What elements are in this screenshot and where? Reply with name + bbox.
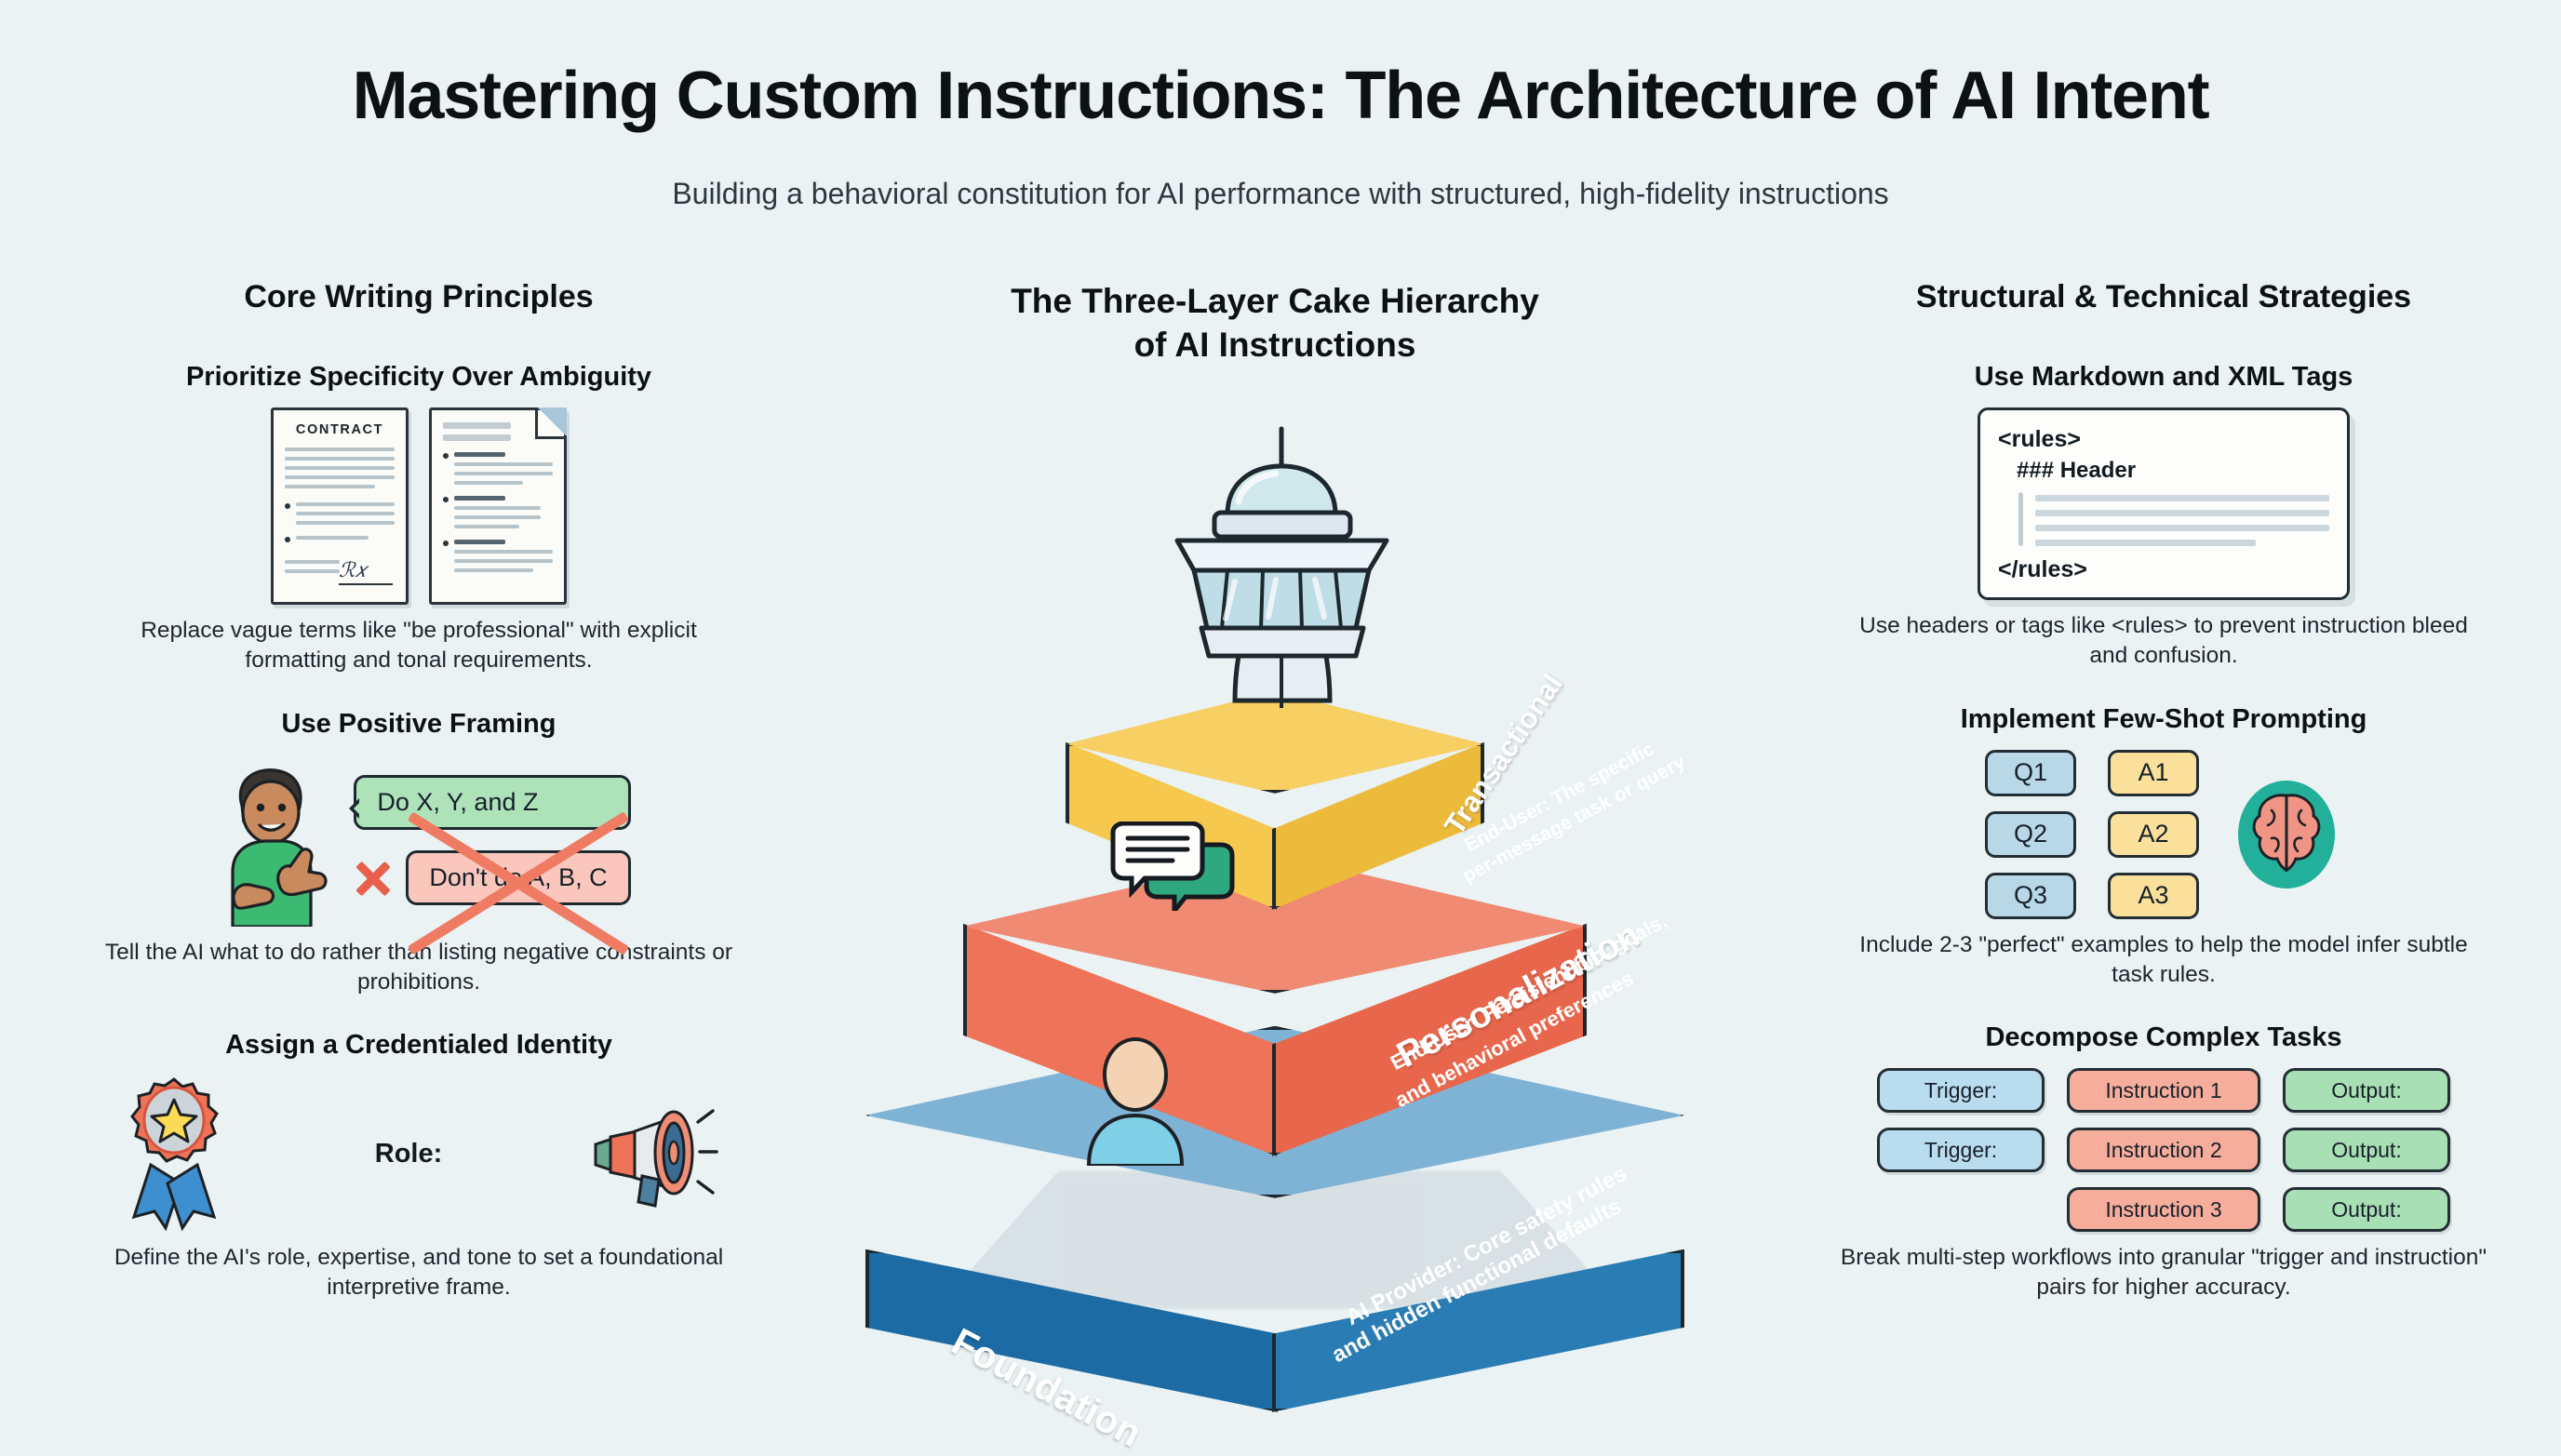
negative-instruction-bubble: Don't do A, B, C [406, 850, 630, 905]
page-title: Mastering Custom Instructions: The Archi… [0, 58, 2561, 134]
block-few-shot-title: Implement Few-Shot Prompting [1838, 704, 2489, 735]
instruction-pill: Instruction 1 [2067, 1068, 2260, 1113]
doc-line [285, 447, 395, 451]
right-column-heading: Structural & Technical Strategies [1838, 279, 2489, 315]
doc-line [454, 559, 553, 563]
doc-line [285, 466, 395, 470]
code-markdown-header: ### Header [2017, 458, 2329, 484]
cross-mark-icon [354, 859, 393, 898]
bullet-lines [454, 452, 553, 490]
answer-chip: A2 [2108, 811, 2199, 858]
cake-heading-line2: of AI Instructions [772, 323, 1777, 367]
control-tower-icon [1149, 421, 1415, 719]
bullet-dot-icon [443, 453, 449, 459]
instruction-column: Instruction 1 Instruction 2 Instruction … [2067, 1068, 2260, 1232]
question-chip-column: Q1 Q2 Q3 [1985, 750, 2076, 919]
answer-chip: A1 [2108, 750, 2199, 796]
block-few-shot: Implement Few-Shot Prompting Q1 Q2 Q3 A1… [1838, 704, 2489, 990]
signature: ℛ𝑥 [339, 561, 393, 585]
positive-instruction-bubble: Do X, Y, and Z [354, 775, 630, 830]
bullet-lines [454, 540, 553, 578]
block-few-shot-caption: Include 2-3 "perfect" examples to help t… [1838, 930, 2489, 990]
instruction-pill: Instruction 2 [2067, 1128, 2260, 1172]
doc-line [454, 568, 533, 572]
doc-line [285, 560, 340, 564]
role-label: Role: [375, 1139, 443, 1169]
bullet-dot-icon [443, 541, 449, 546]
block-markdown-xml-title: Use Markdown and XML Tags [1838, 362, 2489, 393]
cake-heading: The Three-Layer Cake Hierarchy of AI Ins… [772, 279, 1777, 367]
specific-document [429, 407, 567, 605]
left-column-heading: Core Writing Principles [102, 279, 735, 315]
doc-line [454, 472, 553, 475]
signature-line [339, 583, 393, 585]
bullet-lines [296, 536, 395, 545]
block-markdown-xml: Use Markdown and XML Tags <rules> ### He… [1838, 362, 2489, 671]
left-column: Core Writing Principles Prioritize Speci… [102, 279, 735, 1336]
code-body [2018, 492, 2329, 546]
user-avatar-icon [1079, 1035, 1191, 1166]
contract-documents-illustration: CONTRACT [102, 407, 735, 605]
output-pill: Output: [2283, 1187, 2450, 1232]
identity-illustration: Role: [102, 1075, 735, 1232]
block-positive-framing-title: Use Positive Framing [102, 709, 735, 740]
doc-line [454, 506, 541, 510]
block-decompose: Decompose Complex Tasks Trigger: Trigger… [1838, 1022, 2489, 1302]
doc-line [454, 540, 505, 544]
few-shot-illustration: Q1 Q2 Q3 A1 A2 A3 [1838, 750, 2489, 919]
doc-line [454, 515, 541, 519]
doc-line [285, 475, 395, 479]
infographic-page: Mastering Custom Instructions: The Archi… [0, 0, 2561, 1429]
block-credentialed-identity-title: Assign a Credentialed Identity [102, 1030, 735, 1061]
block-credentialed-identity-caption: Define the AI's role, expertise, and ton… [102, 1243, 735, 1302]
doc-line [454, 550, 553, 554]
question-chip: Q2 [1985, 811, 2076, 858]
block-positive-framing: Use Positive Framing [102, 709, 735, 997]
answer-chip-column: A1 A2 A3 [2108, 750, 2199, 919]
doc-line [454, 496, 505, 501]
megaphone-icon [588, 1098, 718, 1209]
code-line [2035, 525, 2329, 531]
doc-line [296, 521, 395, 525]
xml-code-card: <rules> ### Header </rules> [1978, 407, 2350, 600]
doc-bullet [443, 496, 553, 534]
doc-line [296, 502, 395, 506]
bullet-dot-icon [285, 503, 290, 509]
code-line [2035, 510, 2329, 516]
block-specificity: Prioritize Specificity Over Ambiguity CO… [102, 362, 735, 675]
brain-icon [2231, 779, 2342, 890]
doc-line [285, 485, 375, 488]
doc-line [443, 422, 511, 429]
block-specificity-caption: Replace vague terms like "be professiona… [102, 616, 735, 675]
person-thumbs-up-icon [207, 755, 346, 927]
bullet-dot-icon [443, 497, 449, 502]
doc-line [454, 525, 519, 528]
decompose-illustration: Trigger: Trigger: Instruction 1 Instruct… [1838, 1068, 2489, 1232]
question-chip: Q1 [1985, 750, 2076, 796]
cake-heading-line1: The Three-Layer Cake Hierarchy [772, 279, 1777, 323]
answer-chip: A3 [2108, 873, 2199, 919]
doc-line [296, 536, 369, 540]
block-decompose-title: Decompose Complex Tasks [1838, 1022, 2489, 1053]
bullet-dot-icon [285, 537, 290, 542]
doc-line [285, 457, 395, 461]
award-rosette-icon [119, 1075, 229, 1232]
output-pill: Output: [2283, 1068, 2450, 1113]
doc-line [454, 481, 523, 485]
doc-bullet [443, 452, 553, 490]
page-subtitle: Building a behavioral constitution for A… [0, 177, 2561, 211]
output-pill: Output: [2283, 1128, 2450, 1172]
block-specificity-title: Prioritize Specificity Over Ambiguity [102, 362, 735, 393]
block-markdown-xml-caption: Use headers or tags like <rules> to prev… [1838, 611, 2489, 671]
instruction-pill: Instruction 3 [2067, 1187, 2260, 1232]
doc-line [454, 462, 553, 466]
trigger-pill: Trigger: [1877, 1128, 2045, 1172]
doc-bullet [285, 536, 395, 545]
code-quote-bar [2018, 492, 2023, 546]
bullet-lines [296, 502, 395, 530]
positive-framing-illustration: Do X, Y, and Z Don't do A, B, C [102, 755, 735, 927]
trigger-pill: Trigger: [1877, 1068, 2045, 1113]
question-chip: Q3 [1985, 873, 2076, 919]
code-line [2035, 540, 2256, 546]
three-layer-cake-diagram: Foundation AI Provider: Core safety rule… [772, 384, 1777, 1370]
doc-line [454, 452, 505, 457]
bullet-lines [454, 496, 553, 534]
code-open-tag: <rules> [1998, 426, 2329, 453]
signature-glyph-icon: ℛ𝑥 [339, 561, 393, 580]
block-credentialed-identity: Assign a Credentialed Identity Role: [102, 1030, 735, 1302]
code-placeholder-lines [2035, 492, 2329, 546]
page-fold-icon [535, 407, 567, 439]
doc-bullet [285, 502, 395, 530]
output-column: Output: Output: Output: [2283, 1068, 2450, 1232]
code-line [2035, 495, 2329, 501]
block-decompose-caption: Break multi-step workflows into granular… [1838, 1243, 2489, 1302]
chat-bubbles-icon [1106, 822, 1245, 911]
right-column: Structural & Technical Strategies Use Ma… [1838, 279, 2489, 1336]
doc-line [285, 569, 340, 573]
vague-document: CONTRACT [271, 407, 409, 605]
trigger-column: Trigger: Trigger: [1877, 1068, 2045, 1232]
code-close-tag: </rules> [1998, 556, 2329, 583]
doc-line [296, 512, 395, 515]
doc-bullet [443, 540, 553, 578]
contract-label: CONTRACT [285, 422, 395, 437]
doc-line [443, 434, 511, 441]
block-positive-framing-caption: Tell the AI what to do rather than listi… [102, 938, 735, 997]
center-column: The Three-Layer Cake Hierarchy of AI Ins… [772, 279, 1777, 1370]
